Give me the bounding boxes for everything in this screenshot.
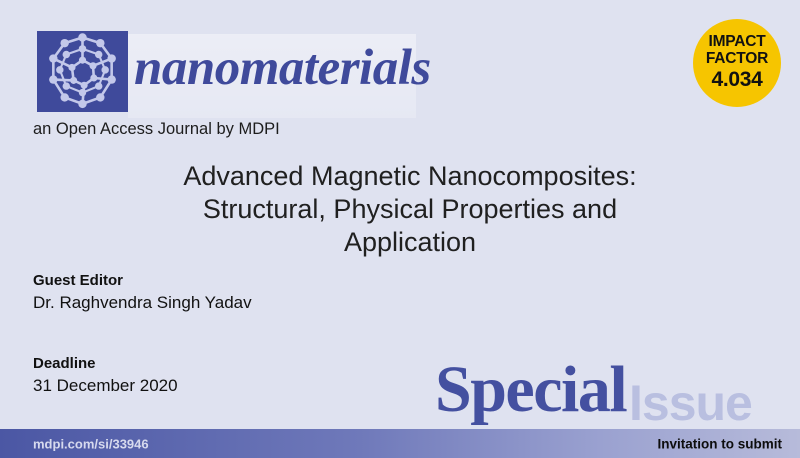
guest-editor-name: Dr. Raghvendra Singh Yadav: [33, 293, 252, 313]
title-line: Application: [120, 226, 700, 259]
watermark-special-text: Special: [435, 357, 626, 423]
journal-subtitle: an Open Access Journal by MDPI: [33, 120, 280, 139]
journal-logo[interactable]: [37, 31, 128, 112]
footer-bar: mdpi.com/si/33946 Invitation to submit: [0, 429, 800, 458]
title-line: Advanced Magnetic Nanocomposites:: [120, 160, 700, 193]
watermark-issue-text: Issue: [629, 378, 752, 428]
guest-editor-block: Guest Editor Dr. Raghvendra Singh Yadav: [33, 272, 252, 313]
deadline-label: Deadline: [33, 355, 178, 372]
special-issue-url[interactable]: mdpi.com/si/33946: [33, 436, 149, 451]
impact-factor-line1: IMPACT: [708, 34, 765, 51]
title-line: Structural, Physical Properties and: [120, 193, 700, 226]
guest-editor-label: Guest Editor: [33, 272, 252, 289]
journal-wordmark: nanomaterials: [134, 39, 431, 97]
impact-factor-line2: FACTOR: [706, 51, 768, 68]
deadline-date: 31 December 2020: [33, 376, 178, 396]
page-title: Advanced Magnetic Nanocomposites: Struct…: [120, 160, 700, 259]
invitation-to-submit-label: Invitation to submit: [658, 436, 783, 451]
impact-factor-badge: IMPACT FACTOR 4.034: [693, 19, 781, 107]
special-issue-flyer: nanomaterials an Open Access Journal by …: [0, 0, 800, 458]
impact-factor-value: 4.034: [711, 69, 762, 92]
deadline-block: Deadline 31 December 2020: [33, 355, 178, 396]
fullerene-buckyball-icon: [37, 31, 128, 112]
